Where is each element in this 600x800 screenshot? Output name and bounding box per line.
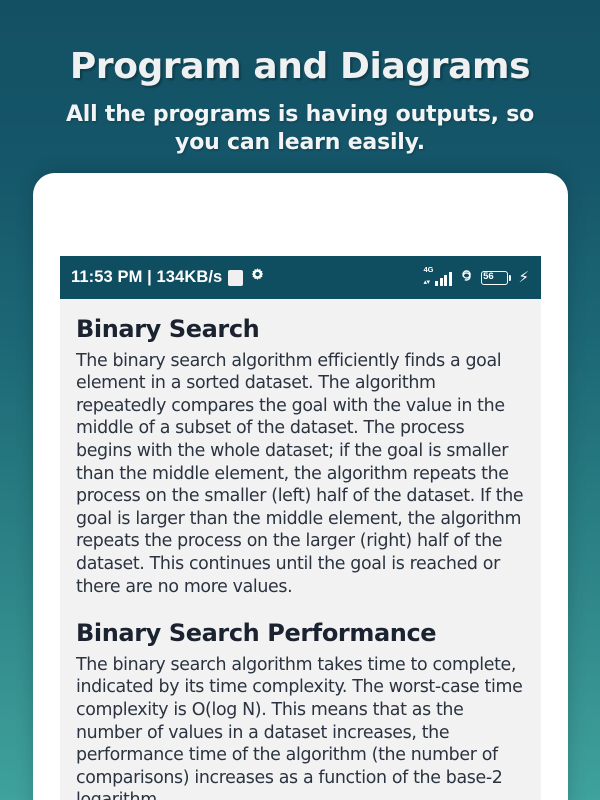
missing-glyph-box-icon bbox=[228, 270, 243, 286]
phone-screen: 11:53 PM | 134KB/s 4G ▴▾ bbox=[60, 256, 541, 800]
lightning-bolt-icon: ⚡ bbox=[518, 270, 529, 285]
section-body-binary-search-performance: The binary search algorithm takes time t… bbox=[76, 654, 525, 800]
sync-icon bbox=[458, 267, 475, 289]
section-heading-binary-search-performance: Binary Search Performance bbox=[76, 620, 525, 648]
network-type-label: 4G bbox=[423, 266, 433, 274]
status-bar-right: 4G ▴▾ 56 bbox=[424, 267, 529, 289]
promo-header: Program and Diagrams All the programs is… bbox=[0, 0, 600, 158]
android-status-bar: 11:53 PM | 134KB/s 4G ▴▾ bbox=[60, 256, 541, 299]
page-subtitle: All the programs is having outputs, so y… bbox=[36, 101, 564, 158]
phone-mockup-card: 11:53 PM | 134KB/s 4G ▴▾ bbox=[33, 173, 568, 800]
article-content[interactable]: Binary Search The binary search algorith… bbox=[60, 299, 541, 800]
section-heading-binary-search: Binary Search bbox=[76, 316, 525, 344]
data-transfer-arrows-icon: ▴▾ bbox=[423, 279, 429, 286]
page-title: Program and Diagrams bbox=[36, 48, 564, 87]
signal-bars-icon: 4G ▴▾ bbox=[424, 270, 452, 286]
article-section: Binary Search Performance The binary sea… bbox=[76, 620, 525, 800]
battery-icon: 56 bbox=[481, 271, 512, 285]
battery-percent-label: 56 bbox=[483, 272, 493, 282]
gear-icon[interactable] bbox=[249, 267, 266, 289]
section-body-binary-search: The binary search algorithm efficiently … bbox=[76, 350, 525, 599]
battery-body: 56 bbox=[481, 271, 508, 285]
battery-tip bbox=[509, 275, 512, 281]
status-bar-left: 11:53 PM | 134KB/s bbox=[71, 267, 266, 289]
status-clock-and-network-speed: 11:53 PM | 134KB/s bbox=[71, 268, 222, 287]
article-section: Binary Search The binary search algorith… bbox=[76, 316, 525, 598]
signal-strength-bars bbox=[435, 272, 452, 286]
